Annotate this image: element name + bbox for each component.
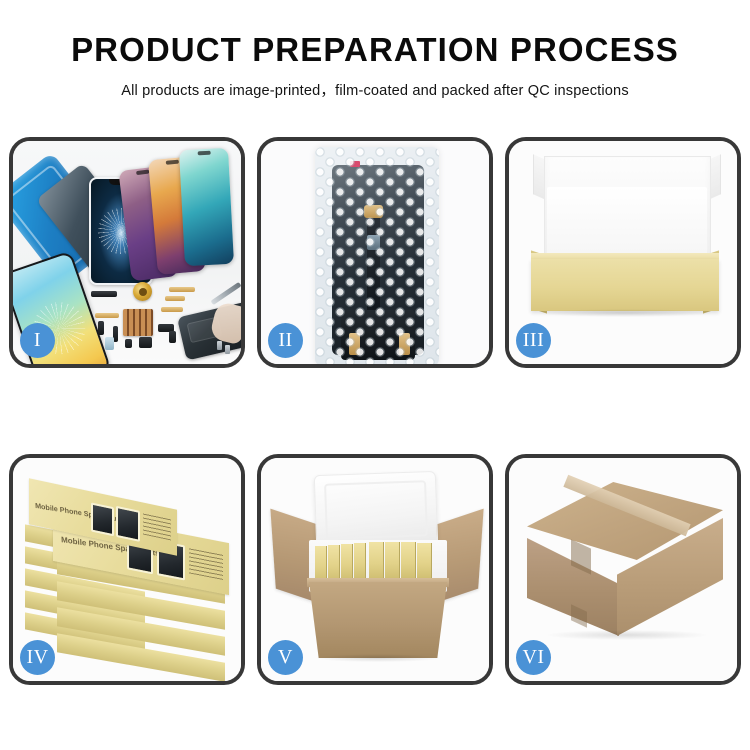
box-window-screen [116, 506, 140, 542]
yellow-box [354, 543, 366, 581]
drop-shadow [316, 654, 440, 662]
part-speaker-bar [91, 291, 117, 297]
screwdriver-icon [211, 282, 241, 305]
yellow-box [417, 543, 432, 581]
step-badge-5: V [268, 640, 303, 675]
part-button [169, 331, 176, 343]
step-panel-5[interactable]: V [257, 454, 493, 685]
box-window-screen [91, 502, 114, 536]
drop-shadow [547, 630, 707, 640]
step-badge-3: III [516, 323, 551, 358]
part-flex-cable [165, 296, 185, 301]
step-panel-4[interactable]: Mobile Phone Spare Parts Mobile Phone Sp… [9, 454, 245, 685]
part-wireless-coil [133, 282, 152, 301]
foam-lid [314, 471, 439, 549]
part-flex-cable [95, 313, 119, 318]
carton-front [309, 582, 447, 658]
yellow-box [369, 542, 384, 581]
yellow-box [401, 542, 416, 581]
yellow-box [385, 542, 400, 581]
step-panel-2[interactable]: II [257, 137, 493, 368]
step-badge-6: VI [516, 640, 551, 675]
step-panel-3[interactable]: III [505, 137, 741, 368]
part-button [125, 339, 132, 348]
yellow-box-front [531, 259, 719, 311]
part-screw [217, 341, 222, 350]
header: PRODUCT PREPARATION PROCESS All products… [0, 0, 750, 100]
part-flex-cable [161, 307, 183, 312]
process-steps-grid: I II [9, 137, 741, 685]
part-camera-module [139, 337, 152, 348]
page-title: PRODUCT PREPARATION PROCESS [0, 33, 750, 66]
bubble-wrap-bag [315, 147, 439, 364]
step-panel-1[interactable]: I [9, 137, 245, 368]
part-flex-cable [169, 287, 195, 292]
step-badge-4: IV [20, 640, 55, 675]
part-small-panel [105, 337, 114, 350]
part-connector [98, 321, 104, 335]
part-screw [225, 345, 230, 354]
yellow-box [341, 544, 353, 582]
drop-shadow [539, 309, 711, 317]
part-chip-grid [123, 309, 153, 336]
page-subtitle: All products are image-printed，film-coat… [0, 79, 750, 100]
bubble-texture [315, 147, 439, 364]
step-badge-2: II [268, 323, 303, 358]
step-badge-1: I [20, 323, 55, 358]
step-panel-6[interactable]: VI [505, 454, 741, 685]
